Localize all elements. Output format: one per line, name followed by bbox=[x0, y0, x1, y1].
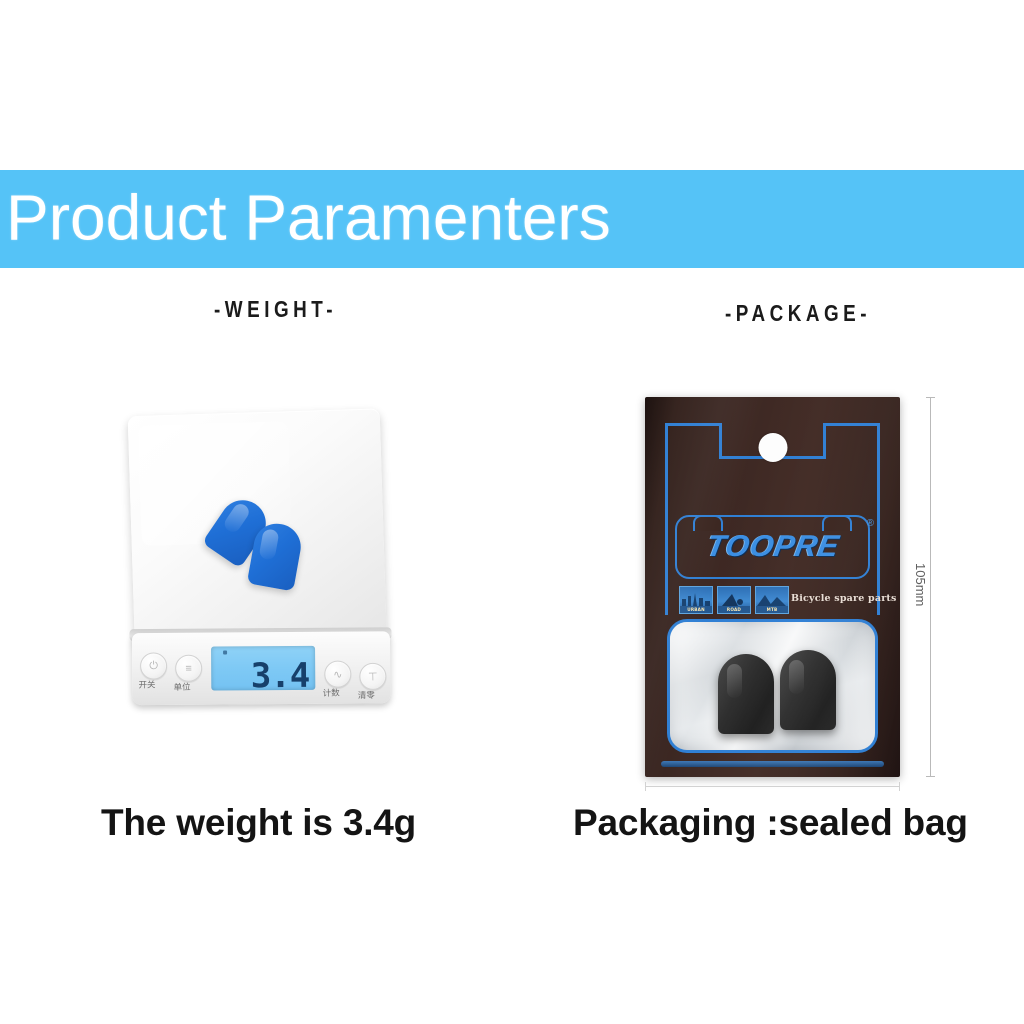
scale-weight-value: 3.4 bbox=[251, 659, 310, 691]
unit-icon: ≡ bbox=[185, 662, 192, 674]
euro-slot-outline bbox=[719, 423, 722, 459]
category-tile-road: ROAD bbox=[717, 586, 751, 614]
scale-platform bbox=[128, 408, 387, 646]
black-bar-end-cap-1 bbox=[718, 654, 774, 734]
page-title: Product Paramenters bbox=[6, 181, 611, 255]
scale-lcd-display: 3.4 bbox=[211, 646, 315, 691]
brand-name: TOOPRE bbox=[703, 530, 841, 564]
caption-package: Packaging :sealed bag bbox=[573, 802, 968, 844]
section-label-weight: -WEIGHT- bbox=[214, 296, 337, 323]
euro-slot-outline bbox=[824, 423, 880, 426]
lcd-indicator-icon bbox=[223, 650, 227, 654]
package-photo: TOOPRE ® URBAN bbox=[645, 397, 900, 777]
hang-hole-icon bbox=[758, 433, 787, 462]
registered-trademark-icon: ® bbox=[867, 518, 874, 529]
category-tile-mtb: MTB bbox=[755, 586, 789, 614]
category-tiles: URBAN ROAD MTB bbox=[679, 586, 789, 614]
euro-slot-outline bbox=[665, 423, 668, 615]
package-tagline: Bicycle spare parts bbox=[791, 593, 897, 604]
count-icon: ∿ bbox=[333, 668, 342, 681]
scale-power-button-label: 开关 bbox=[138, 678, 155, 690]
section-banner: Product Paramenters bbox=[0, 170, 1024, 268]
euro-slot-outline bbox=[823, 423, 826, 459]
scale-unit-button-label: 单位 bbox=[173, 681, 190, 693]
category-tile-label: URBAN bbox=[680, 606, 712, 613]
cap-gloss bbox=[222, 501, 252, 535]
digital-scale-photo: 3.4 ⏻ 开关 ≡ 单位 ∿ 计数 ⊤ 清零 bbox=[123, 401, 420, 727]
dimension-label-height: 105mm bbox=[913, 560, 928, 609]
black-bar-end-cap-2 bbox=[780, 650, 836, 730]
euro-slot-outline bbox=[877, 423, 880, 615]
cap-gloss bbox=[259, 528, 280, 560]
caption-weight: The weight is 3.4g bbox=[101, 802, 416, 844]
product-window bbox=[667, 619, 878, 753]
bag-bottom-seal bbox=[661, 761, 884, 767]
euro-slot-outline bbox=[665, 423, 721, 426]
category-tile-urban: URBAN bbox=[679, 586, 713, 614]
urban-skyline-icon bbox=[680, 592, 712, 606]
dimension-line-vertical bbox=[930, 397, 931, 777]
cap-gloss bbox=[727, 664, 742, 698]
category-tile-label: ROAD bbox=[718, 606, 750, 613]
product-parameters-page: Product Paramenters -WEIGHT- -PACKAGE- 3… bbox=[0, 0, 1024, 1024]
scale-tare-button-label: 清零 bbox=[358, 689, 375, 701]
category-tile-label: MTB bbox=[756, 606, 788, 613]
sealed-bag: TOOPRE ® URBAN bbox=[645, 397, 900, 777]
tare-icon: ⊤ bbox=[368, 670, 378, 683]
road-cyclist-icon bbox=[718, 592, 750, 606]
scale-count-button-label: 计数 bbox=[323, 687, 340, 699]
dimension-line-horizontal bbox=[645, 786, 900, 787]
mountain-icon bbox=[756, 592, 788, 606]
power-icon: ⏻ bbox=[149, 659, 158, 672]
cap-gloss bbox=[789, 660, 804, 694]
section-label-package: -PACKAGE- bbox=[725, 300, 871, 327]
brand-badge: TOOPRE bbox=[675, 515, 870, 579]
